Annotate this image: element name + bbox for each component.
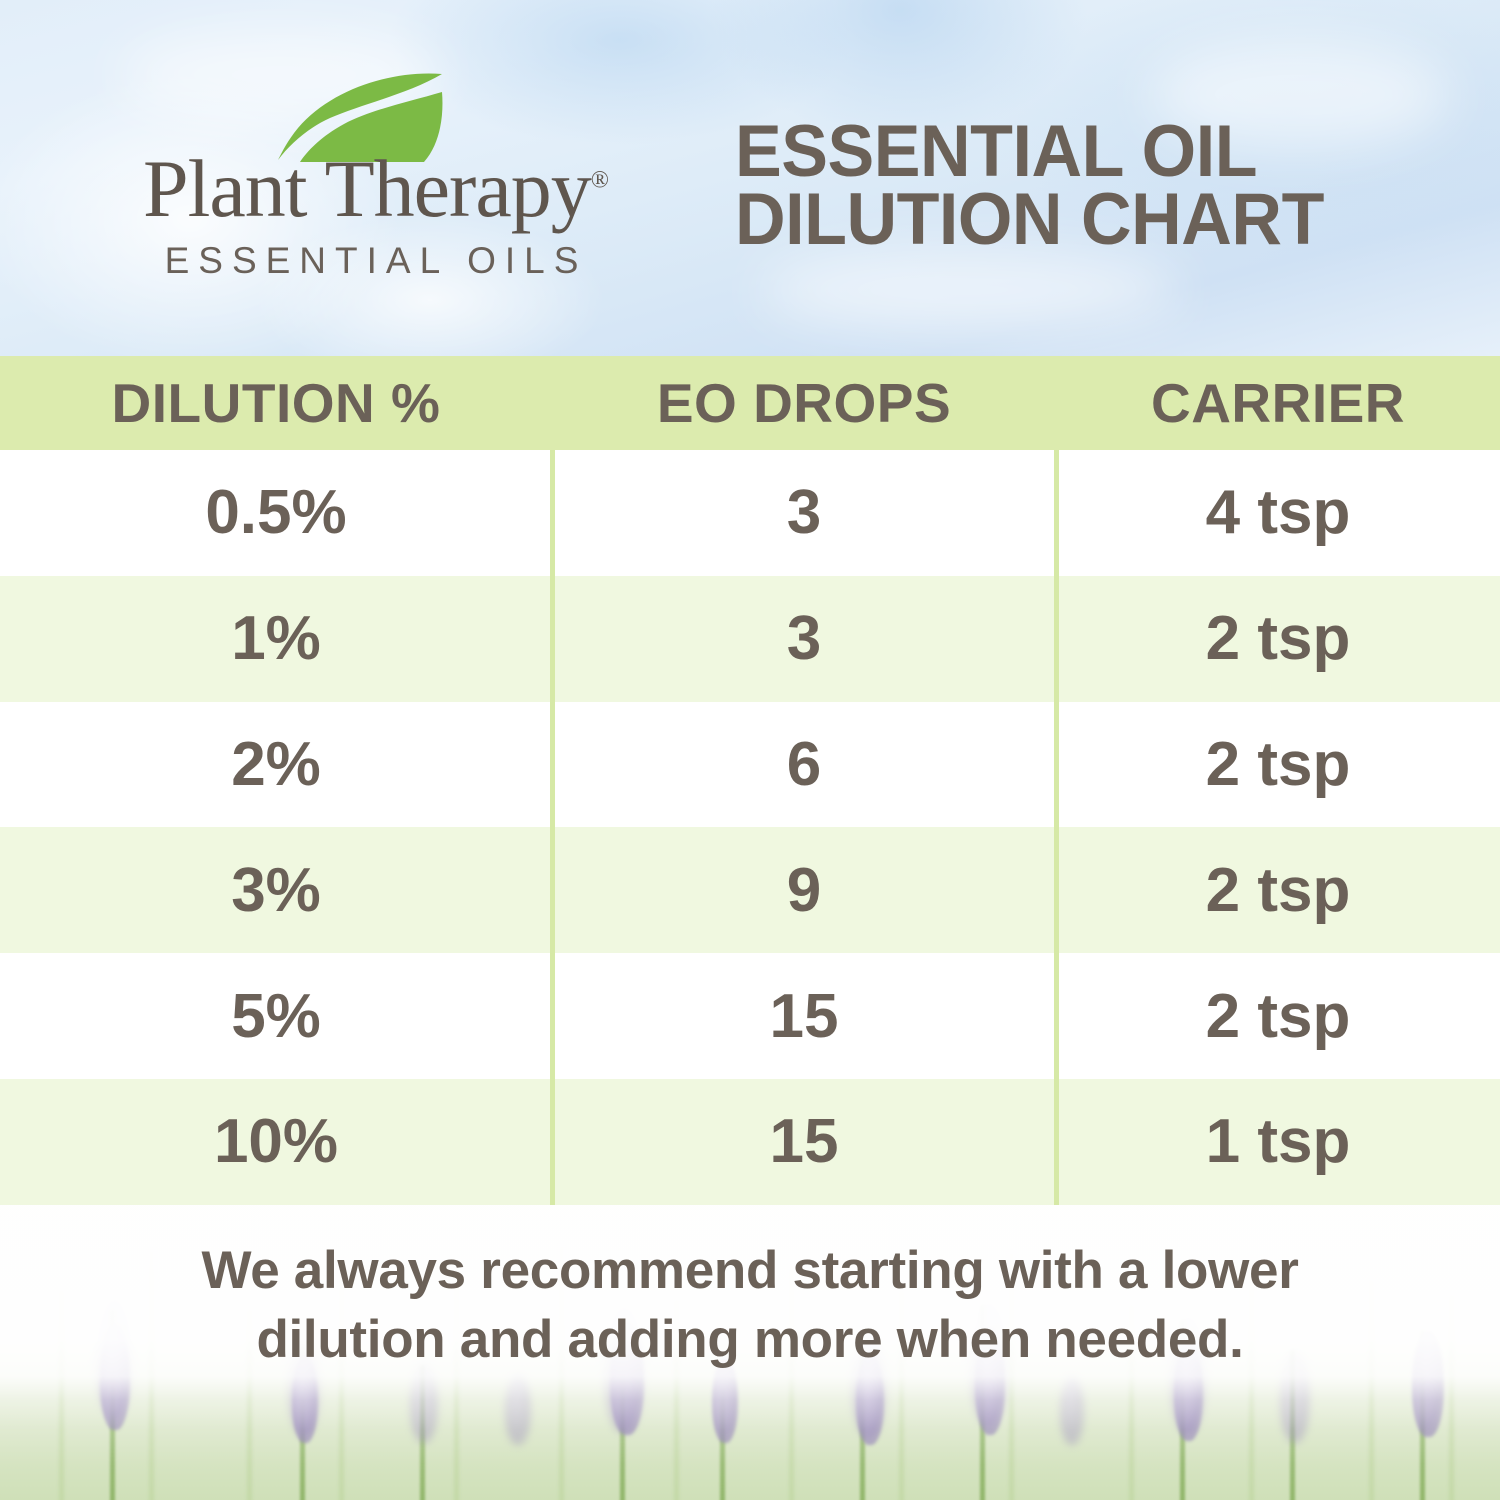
cell-dilution: 5%: [0, 953, 552, 1079]
page-title: ESSENTIAL OIL DILUTION CHART: [735, 118, 1407, 254]
cell-drops: 15: [552, 953, 1056, 1079]
cell-drops: 9: [552, 827, 1056, 953]
cell-drops: 6: [552, 702, 1056, 828]
cell-dilution: 1%: [0, 576, 552, 702]
cell-carrier: 1 tsp: [1056, 1079, 1500, 1205]
cell-dilution: 10%: [0, 1079, 552, 1205]
table-row: 0.5% 3 4 tsp: [0, 450, 1500, 576]
table-header-row: DILUTION % EO DROPS CARRIER: [0, 356, 1500, 450]
registered-mark: ®: [591, 168, 609, 194]
cell-carrier: 2 tsp: [1056, 953, 1500, 1079]
brand-logo: Plant Therapy® ESSENTIAL OILS: [96, 70, 656, 285]
footer-band: We always recommend starting with a lowe…: [0, 1205, 1500, 1500]
cell-drops: 3: [552, 450, 1056, 576]
dilution-chart-infographic: Plant Therapy® ESSENTIAL OILS ESSENTIAL …: [0, 0, 1500, 1500]
table-row: 3% 9 2 tsp: [0, 827, 1500, 953]
dilution-table: DILUTION % EO DROPS CARRIER 0.5% 3 4 tsp…: [0, 356, 1500, 1205]
table-row: 1% 3 2 tsp: [0, 576, 1500, 702]
cell-carrier: 4 tsp: [1056, 450, 1500, 576]
table-row: 2% 6 2 tsp: [0, 702, 1500, 828]
footer-note: We always recommend starting with a lowe…: [0, 1237, 1500, 1375]
column-header-dilution: DILUTION %: [0, 356, 552, 450]
cell-dilution: 3%: [0, 827, 552, 953]
cell-dilution: 2%: [0, 702, 552, 828]
cell-carrier: 2 tsp: [1056, 576, 1500, 702]
brand-tagline: ESSENTIAL OILS: [96, 240, 656, 282]
brand-name: Plant Therapy®: [96, 148, 656, 230]
title-line-2: DILUTION CHART: [735, 186, 1407, 254]
cell-dilution: 0.5%: [0, 450, 552, 576]
table-row: 5% 15 2 tsp: [0, 953, 1500, 1079]
cell-drops: 3: [552, 576, 1056, 702]
column-divider: [550, 450, 555, 1205]
table-row: 10% 15 1 tsp: [0, 1079, 1500, 1205]
footer-note-line-2: dilution and adding more when needed.: [0, 1306, 1500, 1375]
footer-note-line-1: We always recommend starting with a lowe…: [201, 1241, 1298, 1300]
cell-carrier: 2 tsp: [1056, 827, 1500, 953]
cell-carrier: 2 tsp: [1056, 702, 1500, 828]
cell-drops: 15: [552, 1079, 1056, 1205]
column-header-eo-drops: EO DROPS: [552, 356, 1056, 450]
column-divider: [1054, 450, 1059, 1205]
column-header-carrier: CARRIER: [1056, 356, 1500, 450]
